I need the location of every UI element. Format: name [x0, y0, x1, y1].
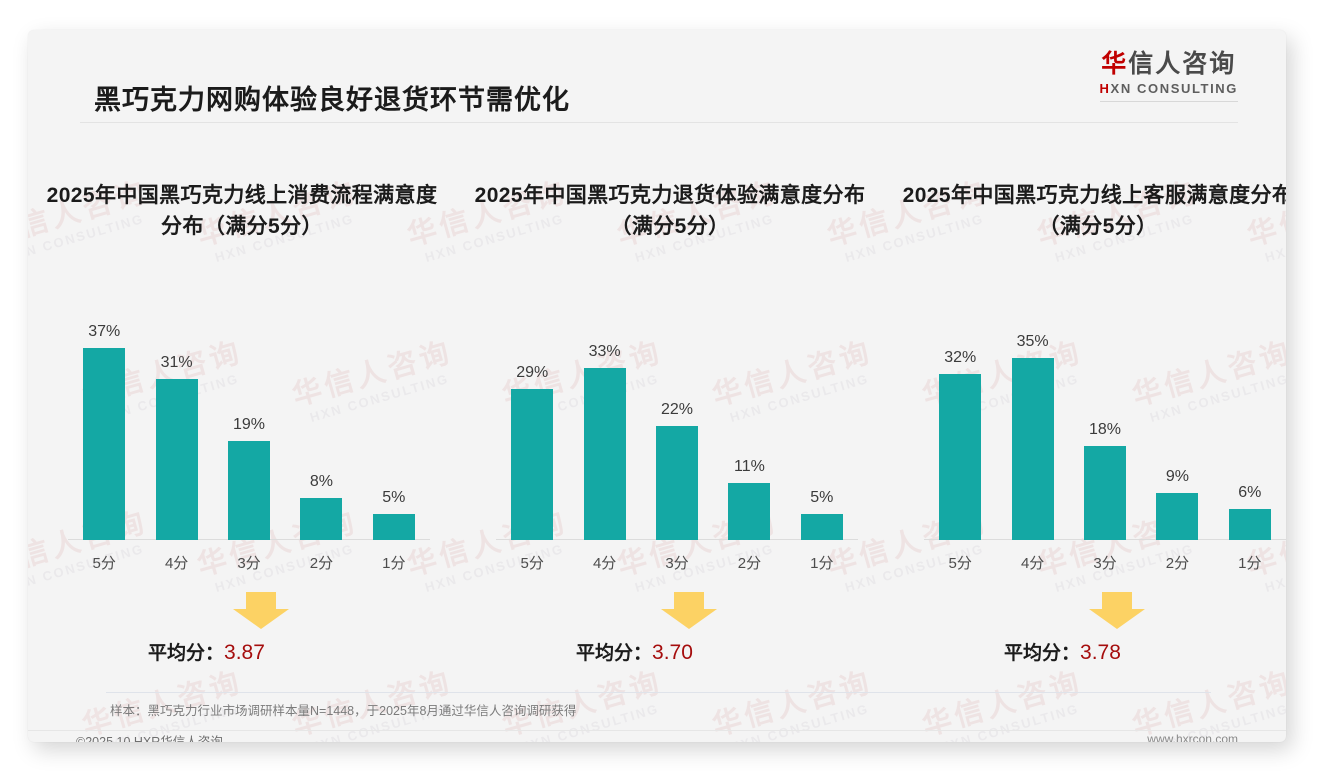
bar-value-label: 6%: [1238, 484, 1261, 502]
category-label: 5分: [68, 552, 140, 573]
bar-slot: 29%: [496, 300, 568, 540]
bar[interactable]: [728, 483, 770, 540]
category-label: 2分: [1141, 552, 1213, 573]
logo-underline: [1100, 101, 1238, 102]
bar-group: 32%35%18%9%6%: [924, 300, 1286, 540]
company-logo: 华信人咨询 HXN CONSULTING: [1100, 50, 1238, 102]
bar[interactable]: [584, 368, 626, 540]
logo-english-text: HXN CONSULTING: [1100, 81, 1238, 96]
category-label: 2分: [713, 552, 785, 573]
chart-plot-area: 32%35%18%9%6%5分4分3分2分1分: [924, 300, 1286, 580]
bar[interactable]: [511, 389, 553, 540]
page-title: 黑巧克力网购体验良好退货环节需优化: [94, 78, 570, 117]
category-label: 4分: [140, 552, 212, 573]
down-arrow-icon: [1088, 590, 1146, 630]
bar[interactable]: [801, 514, 843, 540]
bar-value-label: 11%: [734, 458, 765, 476]
bar-slot: 8%: [285, 300, 357, 540]
average-score-value: 3.87: [224, 641, 265, 664]
logo-cn-rest: 信人咨询: [1128, 50, 1236, 78]
category-label: 1分: [786, 552, 858, 573]
charts-row: 2025年中国黑巧克力线上消费流程满意度分布（满分5分）37%31%19%8%5…: [28, 150, 1286, 670]
average-score-text: 平均分：3.87: [148, 638, 265, 665]
bar-slot: 6%: [1214, 300, 1286, 540]
category-label: 4分: [996, 552, 1068, 573]
category-label: 4分: [568, 552, 640, 573]
bar[interactable]: [83, 348, 125, 540]
category-label: 5分: [924, 552, 996, 573]
bar-value-label: 31%: [161, 354, 193, 372]
bar-slot: 31%: [140, 300, 212, 540]
bar-value-label: 33%: [589, 343, 621, 361]
bar-group: 37%31%19%8%5%: [68, 300, 430, 540]
bar-slot: 5%: [358, 300, 430, 540]
bar[interactable]: [373, 514, 415, 540]
bar[interactable]: [228, 441, 270, 540]
category-label: 3分: [213, 552, 285, 573]
average-annotation: 平均分：3.70: [496, 590, 858, 670]
bar-slot: 18%: [1069, 300, 1141, 540]
slide-canvas: 华信人咨询HXN CONSULTING华信人咨询HXN CONSULTING华信…: [28, 30, 1286, 742]
copyright-text: ©2025.10 HXR华信人咨询: [76, 731, 223, 742]
bar-slot: 9%: [1141, 300, 1213, 540]
bar-value-label: 22%: [661, 401, 693, 419]
bar-value-label: 29%: [516, 364, 548, 382]
bar-value-label: 37%: [88, 323, 120, 341]
category-label: 5分: [496, 552, 568, 573]
logo-cn-accent: 华: [1101, 50, 1128, 78]
bar[interactable]: [300, 498, 342, 540]
category-label: 1分: [358, 552, 430, 573]
bar-value-label: 9%: [1166, 468, 1189, 486]
category-labels: 5分4分3分2分1分: [68, 544, 430, 580]
bar[interactable]: [939, 374, 981, 540]
bar-slot: 5%: [786, 300, 858, 540]
category-label: 1分: [1214, 552, 1286, 573]
chart-plot-area: 37%31%19%8%5%5分4分3分2分1分: [68, 300, 430, 580]
bar[interactable]: [1012, 358, 1054, 540]
bar-value-label: 19%: [233, 416, 265, 434]
bar[interactable]: [1229, 509, 1271, 540]
bar-slot: 37%: [68, 300, 140, 540]
chart-panel-1: 2025年中国黑巧克力线上消费流程满意度分布（满分5分）37%31%19%8%5…: [28, 150, 456, 670]
bar-value-label: 32%: [944, 349, 976, 367]
bar-slot: 33%: [568, 300, 640, 540]
average-score-text: 平均分：3.70: [576, 638, 693, 665]
chart-title: 2025年中国黑巧克力退货体验满意度分布（满分5分）: [470, 180, 870, 242]
bar-slot: 11%: [713, 300, 785, 540]
average-score-label: 平均分：: [576, 643, 652, 664]
bar-slot: 32%: [924, 300, 996, 540]
down-arrow-icon: [232, 590, 290, 630]
bar-value-label: 18%: [1089, 421, 1121, 439]
bar-slot: 22%: [641, 300, 713, 540]
average-annotation: 平均分：3.78: [924, 590, 1286, 670]
bar-slot: 35%: [996, 300, 1068, 540]
sample-footnote: 样本：黑巧克力行业市场调研样本量N=1448，于2025年8月通过华信人咨询调研…: [110, 700, 576, 719]
bar-value-label: 8%: [310, 473, 333, 491]
average-score-text: 平均分：3.78: [1004, 638, 1121, 665]
average-score-value: 3.70: [652, 641, 693, 664]
average-annotation: 平均分：3.87: [68, 590, 430, 670]
bar-value-label: 5%: [382, 489, 405, 507]
footnote-divider: [106, 692, 1211, 693]
chart-panel-3: 2025年中国黑巧克力线上客服满意度分布（满分5分）32%35%18%9%6%5…: [884, 150, 1286, 670]
bar[interactable]: [156, 379, 198, 540]
category-labels: 5分4分3分2分1分: [924, 544, 1286, 580]
header-divider: [80, 122, 1238, 123]
logo-en-accent: H: [1100, 81, 1111, 96]
average-score-label: 平均分：: [148, 643, 224, 664]
bar-value-label: 5%: [810, 489, 833, 507]
bar-value-label: 35%: [1017, 333, 1049, 351]
down-arrow-icon: [660, 590, 718, 630]
slide-header: 黑巧克力网购体验良好退货环节需优化: [28, 30, 1286, 122]
chart-title: 2025年中国黑巧克力线上客服满意度分布（满分5分）: [898, 180, 1286, 242]
bar[interactable]: [1084, 446, 1126, 540]
bar-slot: 19%: [213, 300, 285, 540]
chart-panel-2: 2025年中国黑巧克力退货体验满意度分布（满分5分）29%33%22%11%5%…: [456, 150, 884, 670]
category-label: 2分: [285, 552, 357, 573]
bar-group: 29%33%22%11%5%: [496, 300, 858, 540]
chart-title: 2025年中国黑巧克力线上消费流程满意度分布（满分5分）: [42, 180, 442, 242]
website-link[interactable]: www.hxrcon.com: [1147, 732, 1238, 742]
category-labels: 5分4分3分2分1分: [496, 544, 858, 580]
slide-footer: ©2025.10 HXR华信人咨询 www.hxrcon.com: [28, 731, 1286, 742]
category-label: 3分: [1069, 552, 1141, 573]
category-label: 3分: [641, 552, 713, 573]
average-score-label: 平均分：: [1004, 643, 1080, 664]
chart-plot-area: 29%33%22%11%5%5分4分3分2分1分: [496, 300, 858, 580]
bar[interactable]: [656, 426, 698, 540]
bar[interactable]: [1156, 493, 1198, 540]
logo-chinese-text: 华信人咨询: [1100, 50, 1238, 79]
logo-en-rest: XN CONSULTING: [1111, 81, 1238, 96]
average-score-value: 3.78: [1080, 641, 1121, 664]
